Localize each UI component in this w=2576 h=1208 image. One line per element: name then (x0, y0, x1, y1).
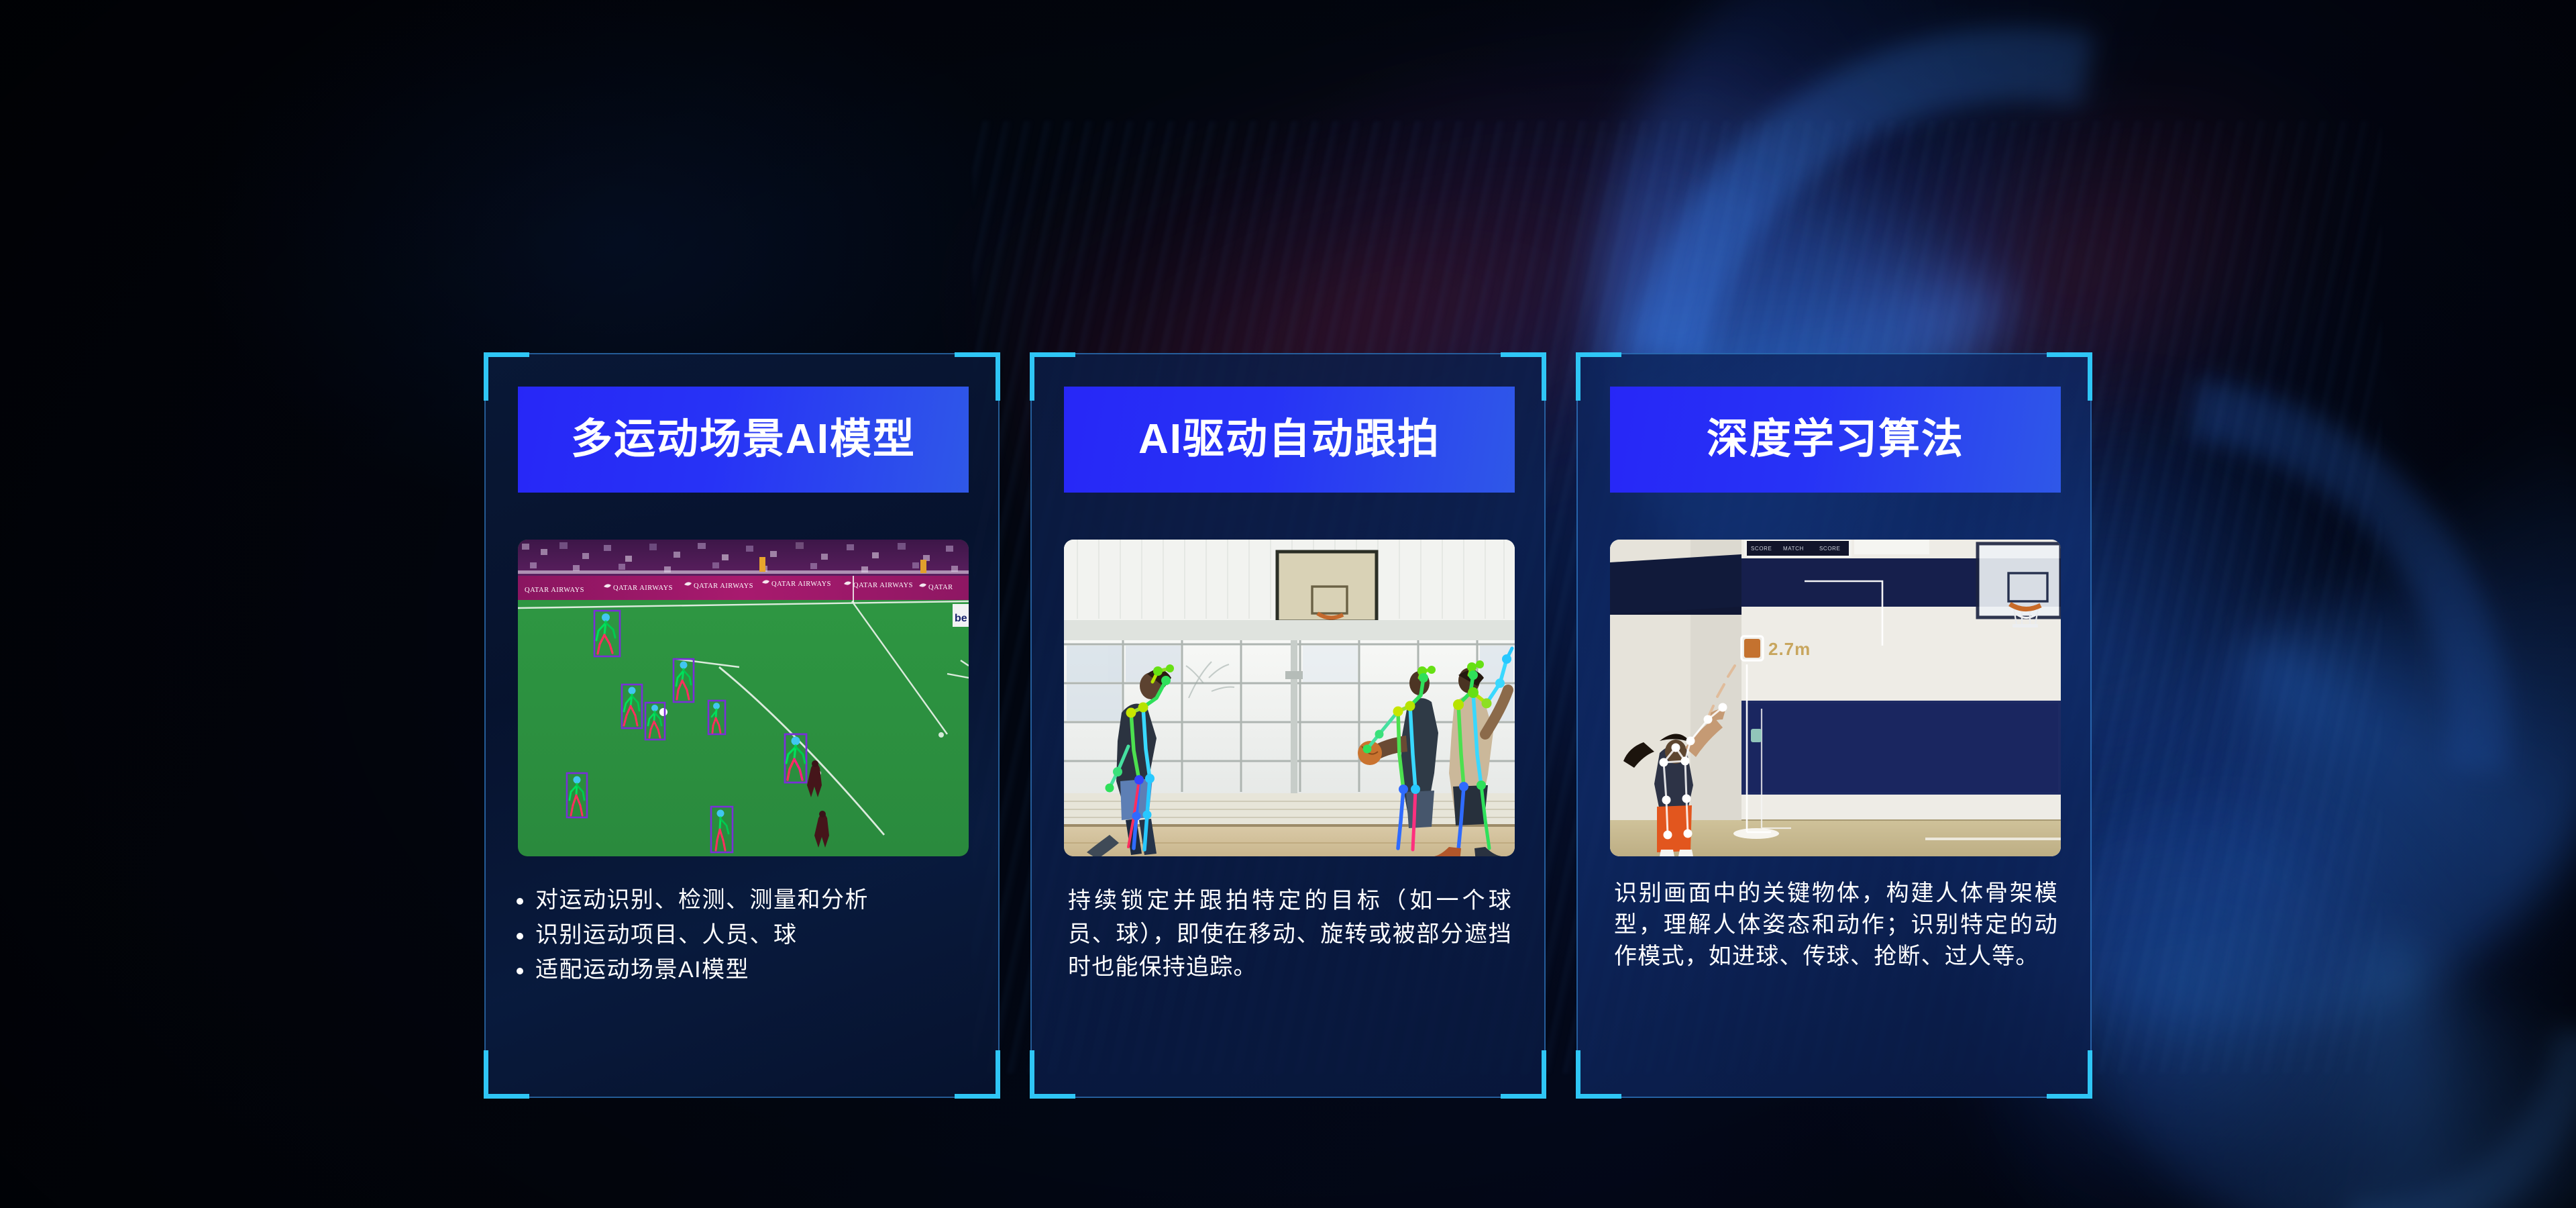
feature-card-row: 多运动场景AI模型 (484, 353, 2092, 1098)
card-description: 识别画面中的关键物体，构建人体骨架模型，理解人体姿态和动作；识别特定的动作模式，… (1605, 878, 2068, 972)
bullet-dot-icon (517, 933, 523, 940)
svg-text:QATAR AIRWAYS: QATAR AIRWAYS (525, 587, 584, 594)
list-item: 识别运动项目、人员、球 (513, 919, 975, 951)
svg-text:QATAR AIRWAYS: QATAR AIRWAYS (771, 581, 831, 588)
svg-text:be: be (955, 613, 967, 624)
list-item: 对运动识别、检测、测量和分析 (513, 885, 975, 916)
card-media-soccer-pose-detection: QATAR AIRWAYS QATAR AIRWAYS QATAR AIRWAY… (518, 540, 969, 856)
feature-card-ai-auto-tracking[interactable]: AI驱动自动跟拍 (1030, 353, 1546, 1098)
svg-text:QATAR AIRWAYS: QATAR AIRWAYS (853, 582, 913, 589)
card-title: AI驱动自动跟拍 (1138, 419, 1440, 460)
feature-card-deep-learning-algorithm[interactable]: 深度学习算法 (1576, 353, 2092, 1098)
card-description: 持续锁定并跟拍特定的目标（如一个球员、球），即使在移动、旋转或被部分遮挡时也能保… (1059, 885, 1521, 985)
svg-text:SCORE: SCORE (1751, 546, 1772, 552)
card-media-gym-basketball-pose (1064, 540, 1515, 856)
svg-text:QATAR: QATAR (928, 584, 953, 591)
corner-bracket-bottom-left-icon (484, 1050, 529, 1099)
corner-bracket-bottom-right-icon (955, 1050, 1000, 1099)
svg-text:SCORE: SCORE (1819, 546, 1840, 552)
card-media-shot-height-measurement: SCOREMATCHSCORE (1610, 540, 2061, 856)
feature-bullet-list: 对运动识别、检测、测量和分析 识别运动项目、人员、球 适配运动场景AI模型 (513, 885, 975, 986)
svg-text:QATAR AIRWAYS: QATAR AIRWAYS (694, 583, 753, 590)
card-body: 对运动识别、检测、测量和分析 识别运动项目、人员、球 适配运动场景AI模型 (513, 885, 975, 989)
bullet-text: 识别运动项目、人员、球 (535, 919, 798, 951)
card-title: 多运动场景AI模型 (571, 419, 916, 460)
list-item: 适配运动场景AI模型 (513, 954, 975, 986)
card-header-bar: AI驱动自动跟拍 (1064, 387, 1515, 493)
bullet-text: 对运动识别、检测、测量和分析 (535, 885, 869, 916)
svg-text:MATCH: MATCH (1783, 546, 1804, 552)
corner-bracket-bottom-right-icon (2047, 1050, 2092, 1099)
card-title: 深度学习算法 (1707, 419, 1964, 460)
corner-bracket-bottom-left-icon (1030, 1050, 1075, 1099)
card-header-bar: 多运动场景AI模型 (518, 387, 969, 493)
card-body: 持续锁定并跟拍特定的目标（如一个球员、球），即使在移动、旋转或被部分遮挡时也能保… (1059, 885, 1521, 985)
bullet-dot-icon (517, 898, 523, 905)
svg-text:QATAR AIRWAYS: QATAR AIRWAYS (613, 585, 673, 592)
card-body: 识别画面中的关键物体，构建人体骨架模型，理解人体姿态和动作；识别特定的动作模式，… (1605, 878, 2068, 972)
bullet-dot-icon (517, 968, 523, 974)
svg-text:2.7m: 2.7m (1768, 639, 1811, 659)
feature-card-multi-sport-ai-model[interactable]: 多运动场景AI模型 (484, 353, 1000, 1098)
corner-bracket-bottom-left-icon (1576, 1050, 1621, 1099)
bullet-text: 适配运动场景AI模型 (535, 954, 749, 986)
corner-bracket-bottom-right-icon (1501, 1050, 1546, 1099)
card-header-bar: 深度学习算法 (1610, 387, 2061, 493)
